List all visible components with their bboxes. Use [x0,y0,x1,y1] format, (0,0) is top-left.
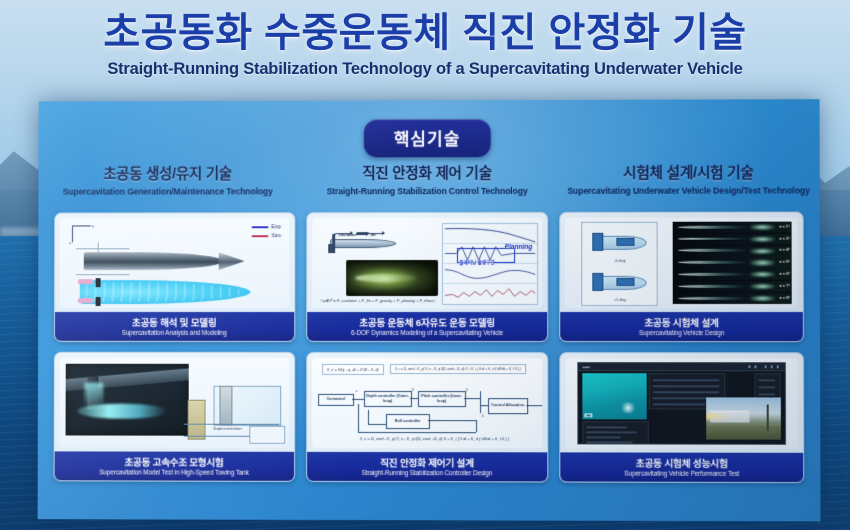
card-controller-design: δ_e = K(q - q_d) + K'(θ - θ_d) δ_r = Ω_c… [306,352,549,483]
card-towing-tank-test: Supercavitation 초공동 고속수조 모형시험 Supercavit… [54,352,295,482]
figure-control-block-diagram: δ_e = K(q - q_d) + K'(θ - θ_d) δ_r = Ω_c… [312,358,543,448]
page-title-english: Straight-Running Stabilization Technolog… [0,60,850,79]
cavity-photo-row: a = 5° [673,257,792,268]
feedback-wire [428,420,476,421]
window-title-label: ■■■■ [583,365,590,369]
supercavity-glow [78,404,167,418]
figure-cavity-profile-plot: x z Exp Sim [60,218,289,308]
toolbar-icon[interactable] [748,365,750,367]
chart-depth [443,224,537,244]
legend-label-exp: Exp [271,224,281,230]
page-title-korean: 초공동화 수중운동체 직진 안정화 기술 [0,0,850,54]
caption-english: Supercavitating Vehicle Design [563,330,801,337]
cad-label-negative: -5 deg [583,258,657,263]
cavity-photo-grid: a = 1° a = 2° a = 4° [673,222,792,304]
axis-label-x: x [92,223,94,228]
column-title-korean: 직진 안정화 제어 기술 [305,162,549,183]
towing-tank-photograph [66,364,189,436]
vehicle-body-icon [597,276,647,290]
caption-english: Supercavitation Analysis and Modeling [57,330,292,337]
dimension-line [183,424,279,425]
control-panel[interactable] [755,373,781,409]
planning-annotation: Planning [505,244,533,251]
signal-wire [410,398,418,399]
core-technology-badge: 핵심기술 [364,119,490,157]
block-command: Command [318,394,354,406]
angle-label: a = 5° [779,259,790,264]
window-control-icon[interactable] [776,365,778,367]
plot-legend: Exp Sim [252,224,282,242]
status-row [587,431,637,433]
signal-wire [526,405,542,406]
cavity-photo-row: a = 6° [673,269,792,280]
pink-marker [78,298,94,303]
card-caption: 직진 안정화 제어기 설계 Straight-Running Stabiliza… [307,452,548,482]
signal-label: δ [482,414,484,418]
cavity-photograph [346,260,438,296]
feedback-wire [476,420,477,432]
legend-entry-sim: Sim [252,233,281,239]
signal-label: δ [466,388,468,392]
planing-region-label-korean: 플레이닝 발생구간 [459,260,494,266]
guide-line [76,274,130,275]
force-arrow [366,233,384,234]
vehicle-hull-icon [330,239,396,248]
test-site-camera-view[interactable] [706,397,781,439]
dimension-line [183,436,263,437]
caption-korean: 초공동 고속수조 모형시험 [57,454,292,468]
caption-english: 6-DOF Dynamics Modeling of a Supercavita… [309,330,546,337]
tank-cad-schematic: Supercavitation [173,380,285,444]
vehicle-body-shape [84,252,223,270]
chart-line [443,264,537,283]
cavity-burst [749,259,775,266]
equation-rudder: δ_r = Ω_cmd - K_p( θ_e - K_q /(Ω_cmd - Ω… [390,364,526,374]
column-title-korean: 초공동 생성/유지 기술 [46,162,289,183]
pole [767,404,769,430]
card-caption: 초공동 고속수조 모형시험 Supercavitation Model Test… [55,451,294,480]
table-row [653,397,719,399]
signal-label: θ [412,388,414,392]
data-table-panel[interactable] [649,373,726,409]
table-row [653,403,705,405]
caption-korean: 초공동 시험체 성능시험 [563,455,802,470]
guide-line [98,242,99,264]
status-row [587,441,633,443]
cavitator-icon [328,244,335,253]
block-pitch-controller: Pitch controller (Inner-loop) [418,391,466,407]
cavity-streak [678,297,752,300]
cavity-burst [749,295,775,302]
force-label-fin: F_fin [366,232,376,237]
cad-model-top [587,227,653,257]
slide-board: 핵심기술 초공동 생성/유지 기술 Supercavitation Genera… [38,99,821,521]
card-6dof-modeling: F_cavitator F_fin ½ρAV² = F_cavitator + … [306,212,549,342]
block-depth-controller: Depth controller (Outer-loop) [364,391,412,407]
tank-enclosure [213,386,281,426]
cad-label-positive: +5 deg [583,297,657,302]
vehicle-free-body-diagram [326,230,400,256]
cavitator-marker [96,297,101,306]
chart-acceleration [443,284,537,303]
status-panel[interactable] [583,421,649,444]
tank-column-right [219,386,232,426]
signal-wire [480,405,488,406]
table-row [653,379,719,381]
legend-entry-exp: Exp [252,224,281,230]
window-control-icon[interactable] [764,365,766,367]
legend-label-sim: Sim [271,233,281,239]
angle-label: a = 7° [779,283,790,288]
legend-swatch-exp [252,226,269,228]
angle-label: a = 2° [779,235,790,240]
column-header-generation: 초공동 생성/유지 기술 Supercavitation Generation/… [38,162,297,196]
technology-card-grid: x z Exp Sim [54,212,805,494]
guide-line [76,248,129,249]
vehicle-body-icon [597,236,647,250]
figure-dynamics-modeling: F_cavitator F_fin ½ρAV² = F_cavitator + … [312,218,543,308]
cavity-burst [749,271,775,278]
card-caption: 초공동 시험체 설계 Supercavitating Vehicle Desig… [561,312,803,341]
detail-inset [249,426,285,444]
cavitator-block-icon [593,273,604,291]
cavity-streak [677,237,751,240]
caption-korean: 초공동 해석 및 모델링 [57,315,292,329]
window-control-icon[interactable] [770,365,772,367]
cavity-photo-row: a = 1° [673,222,792,233]
caption-korean: 초공동 시험체 설계 [563,315,801,329]
column-title-english: Supercavitating Underwater Vehicle Desig… [565,185,811,195]
control-row [759,379,775,381]
caption-korean: 초공동 운동체 6자유도 운동 모델링 [309,315,546,329]
card-caption: 초공동 해석 및 모델링 Supercavitation Analysis an… [55,312,294,341]
building [711,410,750,423]
card-caption: 초공동 시험체 성능시험 Supercavitating Vehicle Per… [561,452,804,482]
caption-english: Straight-Running Stabilization Controlle… [309,470,546,478]
signal-label: z [356,389,358,393]
test-software-window: ■■■■ ■■ [578,362,786,445]
cavity-photo-row: a = 2° [673,233,792,244]
figure-cad-and-cavity-photos: -5 deg +5 deg [566,218,798,308]
block-control-allocation: Control Allocation [488,398,528,414]
angle-label: a = 4° [779,247,790,252]
signal-wire [464,398,480,399]
cavity-streak [678,285,752,288]
support-strut [88,377,99,410]
cavity-streak [677,225,751,228]
card-row-top: x z Exp Sim [54,212,804,343]
chart-planing [443,244,537,264]
feedback-wire [368,424,386,425]
column-header-design-test: 시험체 설계/시험 기술 Supercavitating Underwater … [557,161,819,196]
signal-wire [480,391,481,413]
card-supercavitation-analysis: x z Exp Sim [54,212,295,342]
force-arrow [336,233,352,234]
table-row [653,391,719,393]
cavity-photo-row: a = 4° [673,245,792,256]
cavity-burst [749,283,775,290]
fin-icon [332,234,335,251]
chart-pitch [443,264,537,284]
light-beam [84,382,104,408]
feedback-wire [358,432,476,433]
block-roll-controller: Roll controller [386,414,430,429]
angle-label: a = 6° [779,271,790,276]
equation-force: ½ρAV² = F_cavitator + F_fin + F_gravity … [320,298,435,303]
toolbar-icon[interactable] [754,365,756,367]
cad-model-bottom [587,267,653,297]
cavity-burst [749,247,775,254]
status-row [587,436,621,438]
feedback-wire [368,410,369,424]
cavity-streak [677,261,751,264]
internal-module-icon [617,278,635,286]
column-title-korean: 시험체 설계/시험 기술 [565,161,811,183]
chart-line [443,284,537,303]
equation-elevator: δ_e = K(q - q_d) + K'(θ - θ_d) [322,364,384,375]
cavity-burst [749,224,775,231]
figure-towing-tank: Supercavitation [60,358,289,448]
supercavitation-annotation: Supercavitation [213,426,242,431]
window-title-bar[interactable]: ■■■■ [579,363,785,371]
cavitator-marker [96,278,101,287]
cavitator-block-icon [593,233,604,251]
angle-label: a = 1° [779,223,790,228]
chart-line [443,244,537,263]
force-label-cavitator: F_cavitator [334,232,356,237]
angle-label: a = 8° [779,295,790,300]
caption-korean: 직진 안정화 제어기 설계 [309,455,546,470]
cavity-streak [677,273,751,276]
axis-indicator-icon [72,225,91,242]
cavity-streak [677,249,751,252]
column-headers: 초공동 생성/유지 기술 Supercavitation Generation/… [38,161,819,196]
planing-region-box [457,248,515,263]
equation-depth: δ_z = Ω_cmd - K_p( θ_e - K_q /(Ω_cmd - Ω… [356,434,513,443]
muzzle-flash [706,412,731,421]
control-row [759,386,775,388]
response-chart-stack: Planning 플레이닝 발생구간 [442,223,538,305]
sonar-readout-label: ■■ [585,413,593,417]
tank-column-left [187,400,205,440]
pink-marker [78,279,94,284]
cavity-burst [749,235,775,242]
internal-module-icon [617,238,635,246]
vehicle-nose-shape [219,252,245,270]
cad-cutaway-panel: -5 deg +5 deg [582,222,658,306]
column-title-english: Supercavitation Generation/Maintenance T… [46,186,289,196]
ground [706,425,781,439]
legend-swatch-sim [252,235,269,237]
presentation-slide-photo: 초공동화 수중운동체 직진 안정화 기술 Straight-Running St… [0,0,850,530]
carriage-rail [66,368,189,390]
axis-label-z: z [69,240,71,245]
figure-test-software-ui: ■■■■ ■■ [566,358,799,449]
sonar-view-panel[interactable]: ■■ [583,373,647,419]
table-row [653,385,719,387]
signal-wire [352,399,364,400]
column-header-control: 직진 안정화 제어 기술 Straight-Running Stabilizat… [297,162,557,196]
status-row [587,426,627,428]
caption-english: Supercavitating Vehicle Performance Test [563,470,802,478]
card-vehicle-design: -5 deg +5 deg [559,212,803,343]
fin-icon [355,232,369,235]
feedback-wire [358,404,359,432]
cavity-photo-row: a = 7° [673,281,792,292]
card-performance-test: ■■■■ ■■ [560,352,805,483]
caption-english: Supercavitation Model Test in High-Speed… [57,469,292,477]
slide-title-block: 초공동화 수중운동체 직진 안정화 기술 Straight-Running St… [0,0,850,100]
cavity-photo-row: a = 8° [673,293,792,304]
control-row [759,393,775,395]
cavity-shape [80,280,251,304]
card-caption: 초공동 운동체 6자유도 운동 모델링 6-DOF Dynamics Model… [307,312,548,341]
column-title-english: Straight-Running Stabilization Control T… [305,186,549,196]
chart-line [443,224,537,243]
card-row-bottom: Supercavitation 초공동 고속수조 모형시험 Supercavit… [54,352,805,483]
